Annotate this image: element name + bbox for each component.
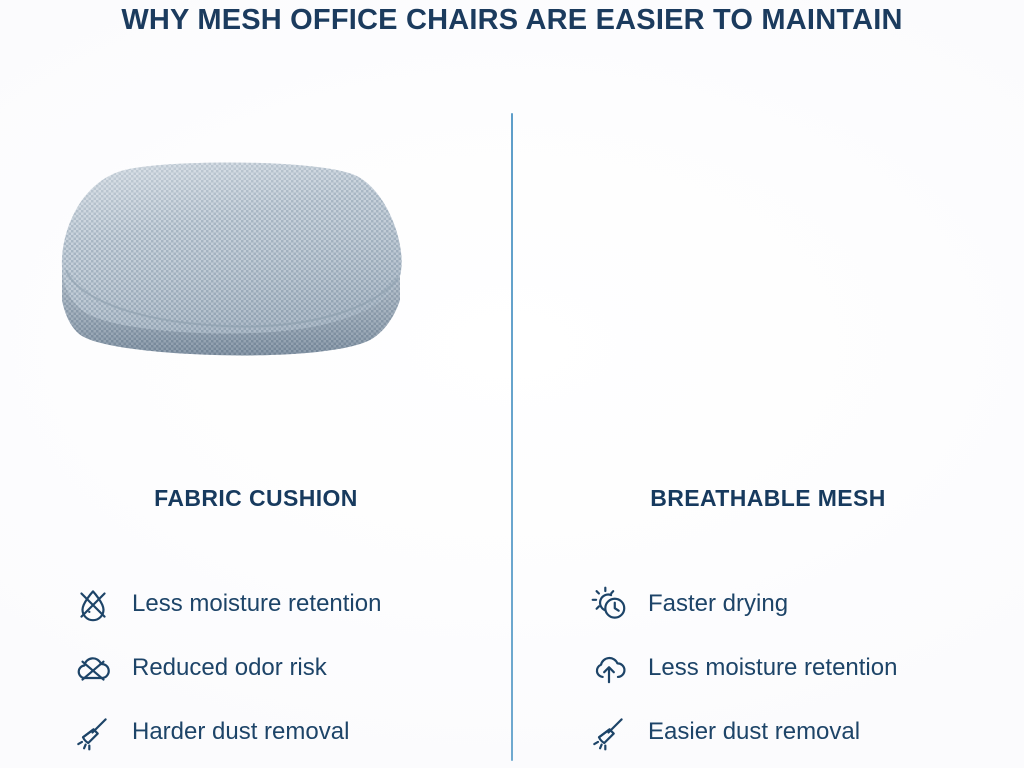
- right-panel-heading: BREATHABLE MESH: [512, 485, 1024, 512]
- infographic-canvas: WHY MESH OFFICE CHAIRS ARE EASIER TO MAI…: [0, 0, 1024, 768]
- sun-clock-icon: [588, 583, 630, 625]
- right-panel-breathable-mesh: BREATHABLE MESH Faster drying: [512, 0, 1024, 768]
- feature-item-harder-dust-removal: Harder dust removal: [0, 700, 512, 764]
- left-feature-list: Less moisture retention Reduced odor ris…: [0, 572, 512, 764]
- feature-item-reduced-odor-risk: Reduced odor risk: [0, 636, 512, 700]
- feature-item-faster-drying: Faster drying: [512, 572, 1024, 636]
- feature-label: Faster drying: [648, 592, 788, 616]
- broom-icon: [588, 711, 630, 753]
- feature-item-easier-dust-removal: Easier dust removal: [512, 700, 1024, 764]
- feature-label: Easier dust removal: [648, 720, 860, 744]
- feature-label: Harder dust removal: [132, 720, 349, 744]
- feature-item-less-moisture-retention: Less moisture retention: [0, 572, 512, 636]
- cloud-upload-icon: [588, 647, 630, 689]
- feature-label: Reduced odor risk: [132, 656, 327, 680]
- fabric-cushion-illustration: [56, 150, 416, 400]
- feature-label: Less moisture retention: [648, 656, 897, 680]
- left-panel-fabric-cushion: FABRIC CUSHION Less moisture retention R…: [0, 0, 512, 768]
- feature-label: Less moisture retention: [132, 592, 381, 616]
- right-feature-list: Faster drying Less moisture retention: [512, 572, 1024, 764]
- water-drop-crossed-icon: [72, 583, 114, 625]
- cloud-crossed-icon: [72, 647, 114, 689]
- feature-item-less-moisture-retention: Less moisture retention: [512, 636, 1024, 700]
- broom-icon: [72, 711, 114, 753]
- left-panel-heading: FABRIC CUSHION: [0, 485, 512, 512]
